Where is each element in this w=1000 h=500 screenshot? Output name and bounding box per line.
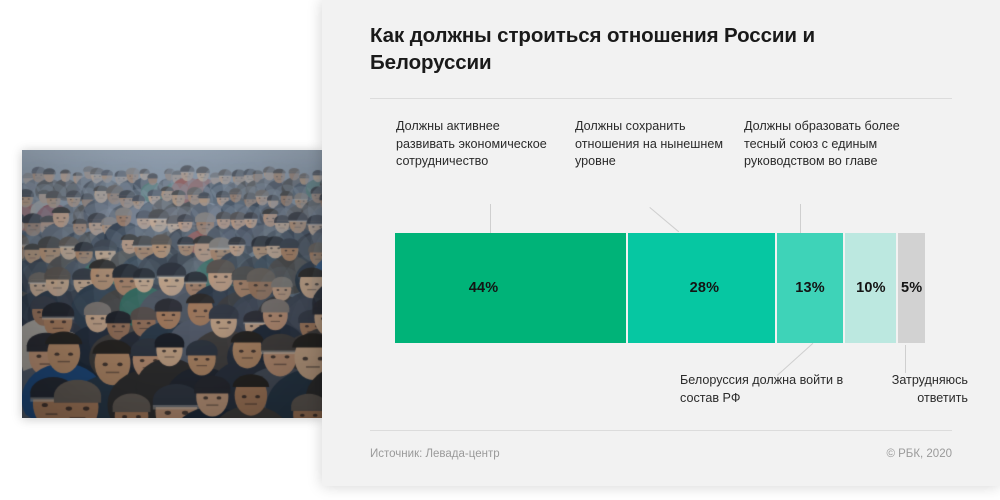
- infographic-card: Как должны строиться отношения России и …: [322, 0, 1000, 486]
- bar-segment-3[interactable]: 13%: [777, 233, 846, 343]
- page-title: Как должны строиться отношения России и …: [370, 22, 930, 76]
- leader-line-segment-3: [800, 204, 801, 234]
- bar-segment-3-value: 13%: [795, 280, 825, 296]
- leader-line-segment-1: [490, 204, 491, 234]
- leader-line-segment-2: [649, 207, 679, 232]
- chart-label-closer-union: Должны образовать более тесный союз с ед…: [744, 118, 916, 171]
- stacked-bar-chart: 44% 28% 13% 10% 5%: [395, 233, 925, 343]
- title-divider: [370, 98, 952, 99]
- copyright-credit: © РБК, 2020: [886, 448, 952, 460]
- source-credit: Источник: Левада-центр: [370, 448, 500, 460]
- crowd-photo-canvas: [22, 150, 322, 418]
- chart-label-keep-current-level: Должны сохранить отношения на нынешнем у…: [575, 118, 725, 171]
- bar-segment-1-value: 44%: [469, 280, 499, 296]
- bar-segment-2[interactable]: 28%: [628, 233, 776, 343]
- leader-line-segment-5: [905, 345, 906, 373]
- infographic-card-body: Как должны строиться отношения России и …: [322, 0, 1000, 486]
- crowd-photo: [22, 150, 322, 418]
- bar-segment-1[interactable]: 44%: [395, 233, 628, 343]
- footer-divider: [370, 430, 952, 431]
- leader-line-segment-4: [777, 343, 813, 376]
- bar-segment-4[interactable]: 10%: [845, 233, 898, 343]
- bar-segment-5[interactable]: 5%: [898, 233, 925, 343]
- bar-segment-5-value: 5%: [901, 280, 922, 296]
- chart-label-join-russia: Белоруссия должна войти в состав РФ: [680, 372, 848, 407]
- bar-segment-4-value: 10%: [856, 280, 886, 296]
- chart-label-economic-cooperation: Должны активнее развивать экономическое …: [396, 118, 556, 171]
- bar-segment-2-value: 28%: [690, 280, 720, 296]
- chart-label-hard-to-answer: Затрудняюсь ответить: [858, 372, 968, 407]
